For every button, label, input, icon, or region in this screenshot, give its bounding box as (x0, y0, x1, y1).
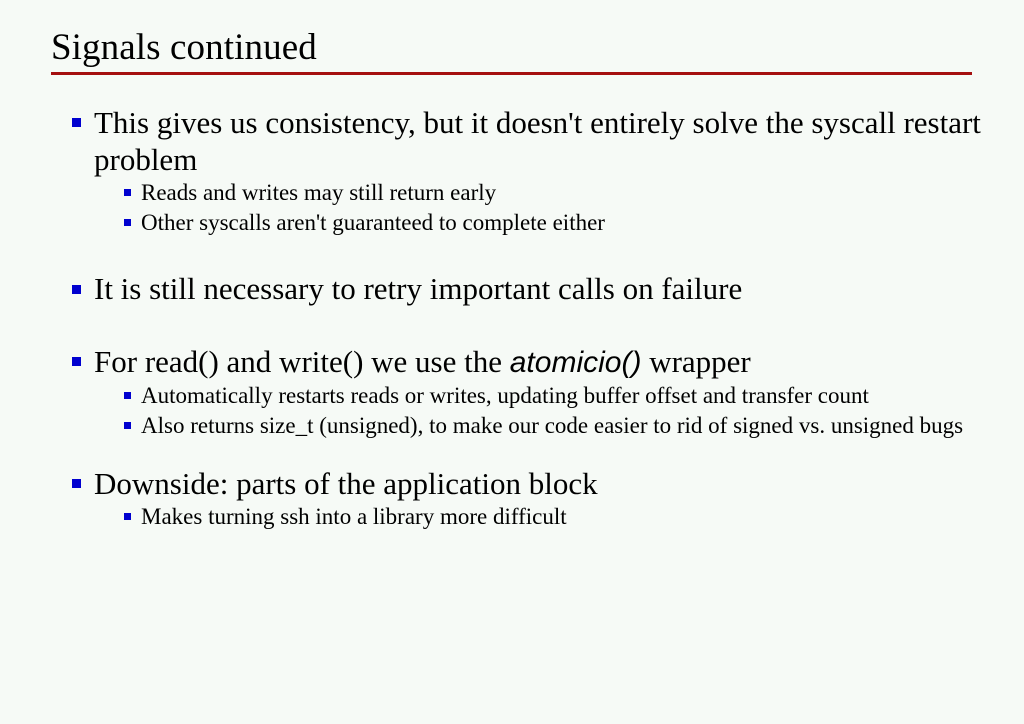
bullet-item-level1: Downside: parts of the application block (0, 465, 1024, 502)
bullet-text: Other syscalls aren't guaranteed to comp… (141, 208, 984, 238)
page-title: Signals continued (51, 26, 973, 70)
bullet-item-level2: Also returns size_t (unsigned), to make … (0, 411, 1024, 441)
bullet-group: Downside: parts of the application block… (0, 465, 1024, 532)
group-spacer (0, 238, 1024, 267)
slide-header: Signals continued (51, 26, 973, 75)
square-bullet-icon (124, 392, 131, 399)
bullet-group: It is still necessary to retry important… (0, 267, 1024, 311)
bullet-item-level2: Reads and writes may still return early (0, 178, 1024, 208)
square-bullet-icon (72, 357, 81, 366)
bullet-group: For read() and write() we use the atomic… (0, 343, 1024, 441)
bullet-text: This gives us consistency, but it doesn'… (94, 104, 984, 178)
bullet-item-level2: Automatically restarts reads or writes, … (0, 381, 1024, 411)
bullet-item-level1: This gives us consistency, but it doesn'… (0, 104, 1024, 178)
square-bullet-icon (124, 513, 131, 520)
title-underline-rule (51, 72, 972, 75)
square-bullet-icon (72, 479, 81, 488)
slide: Signals continued This gives us consiste… (0, 0, 1024, 724)
group-spacer (0, 311, 1024, 343)
bullet-item-level2: Makes turning ssh into a library more di… (0, 502, 1024, 532)
bullet-item-level1: For read() and write() we use the atomic… (0, 343, 1024, 381)
bullet-group: This gives us consistency, but it doesn'… (0, 104, 1024, 238)
emphasis-atomicio: atomicio() (510, 346, 642, 379)
square-bullet-icon (124, 219, 131, 226)
square-bullet-icon (124, 422, 131, 429)
bullet-text: It is still necessary to retry important… (94, 267, 984, 311)
bullet-text: Automatically restarts reads or writes, … (141, 381, 984, 411)
bullet-text-prefix: For read() and write() we use the (94, 344, 510, 379)
bullet-text-suffix: wrapper (641, 344, 750, 379)
bullet-text: Reads and writes may still return early (141, 178, 984, 208)
bullet-item-level1: It is still necessary to retry important… (0, 267, 1024, 311)
bullet-text: Also returns size_t (unsigned), to make … (141, 411, 984, 441)
bullet-text: Downside: parts of the application block (94, 465, 984, 502)
bullet-item-level2: Other syscalls aren't guaranteed to comp… (0, 208, 1024, 238)
square-bullet-icon (124, 189, 131, 196)
square-bullet-icon (72, 118, 81, 127)
bullet-text: For read() and write() we use the atomic… (94, 343, 984, 381)
slide-body: This gives us consistency, but it doesn'… (0, 104, 1024, 532)
square-bullet-icon (72, 285, 81, 294)
bullet-text: Makes turning ssh into a library more di… (141, 502, 984, 532)
group-spacer (0, 441, 1024, 465)
